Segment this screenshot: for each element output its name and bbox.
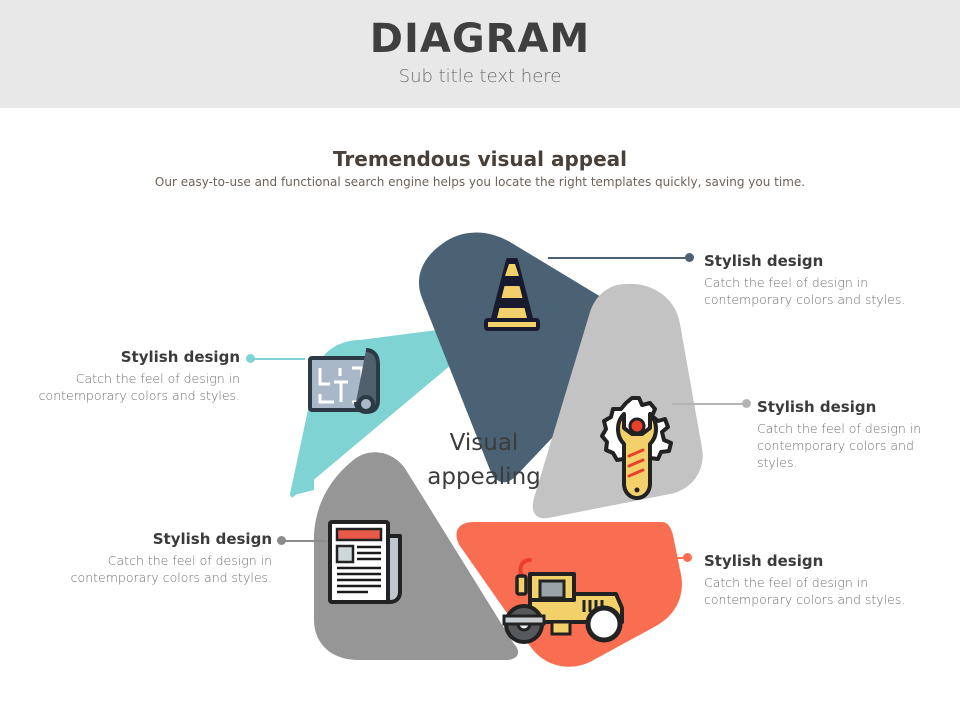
section-description: Our easy-to-use and functional search en… (80, 174, 880, 191)
connector-dot-middle-left (246, 354, 255, 363)
callout-body: Catch the feel of design in contemporary… (22, 552, 272, 586)
newspaper-icon (330, 522, 400, 602)
connector-dot-top-right (685, 253, 694, 262)
callout-title: Stylish design (704, 552, 916, 571)
connector-dot-bottom-left (277, 536, 286, 545)
page-subtitle: Sub title text here (0, 66, 960, 88)
center-label-line2: appealing (427, 464, 541, 490)
callout-bottom-right[interactable]: Stylish design Catch the feel of design … (704, 552, 916, 608)
callout-middle-left[interactable]: Stylish design Catch the feel of design … (30, 348, 240, 404)
callout-body: Catch the feel of design in contemporary… (704, 574, 916, 608)
connector-line-bottom-left (285, 540, 327, 542)
callout-title: Stylish design (22, 530, 272, 549)
callout-title: Stylish design (757, 398, 953, 417)
callout-title: Stylish design (704, 252, 916, 271)
blueprint-icon (310, 350, 378, 412)
page-title: DIAGRAM (0, 16, 960, 62)
callout-top-right[interactable]: Stylish design Catch the feel of design … (704, 252, 916, 308)
connector-line-top-right (548, 257, 688, 259)
callout-body: Catch the feel of design in contemporary… (757, 420, 953, 471)
callout-body: Catch the feel of design in contemporary… (704, 274, 916, 308)
connector-line-middle-right (672, 403, 746, 405)
slide-canvas: DIAGRAM Sub title text here Tremendous v… (0, 0, 960, 720)
callout-middle-right[interactable]: Stylish design Catch the feel of design … (757, 398, 953, 471)
center-label-line1: Visual (450, 430, 519, 456)
callout-body: Catch the feel of design in contemporary… (30, 370, 240, 404)
callout-title: Stylish design (30, 348, 240, 367)
section-title: Tremendous visual appeal (0, 146, 960, 172)
connector-dot-bottom-right (683, 553, 692, 562)
pinwheel-diagram: Visual appealing (228, 222, 740, 672)
callout-bottom-left[interactable]: Stylish design Catch the feel of design … (22, 530, 272, 586)
connector-line-middle-left (253, 358, 305, 360)
connector-dot-middle-right (742, 399, 751, 408)
